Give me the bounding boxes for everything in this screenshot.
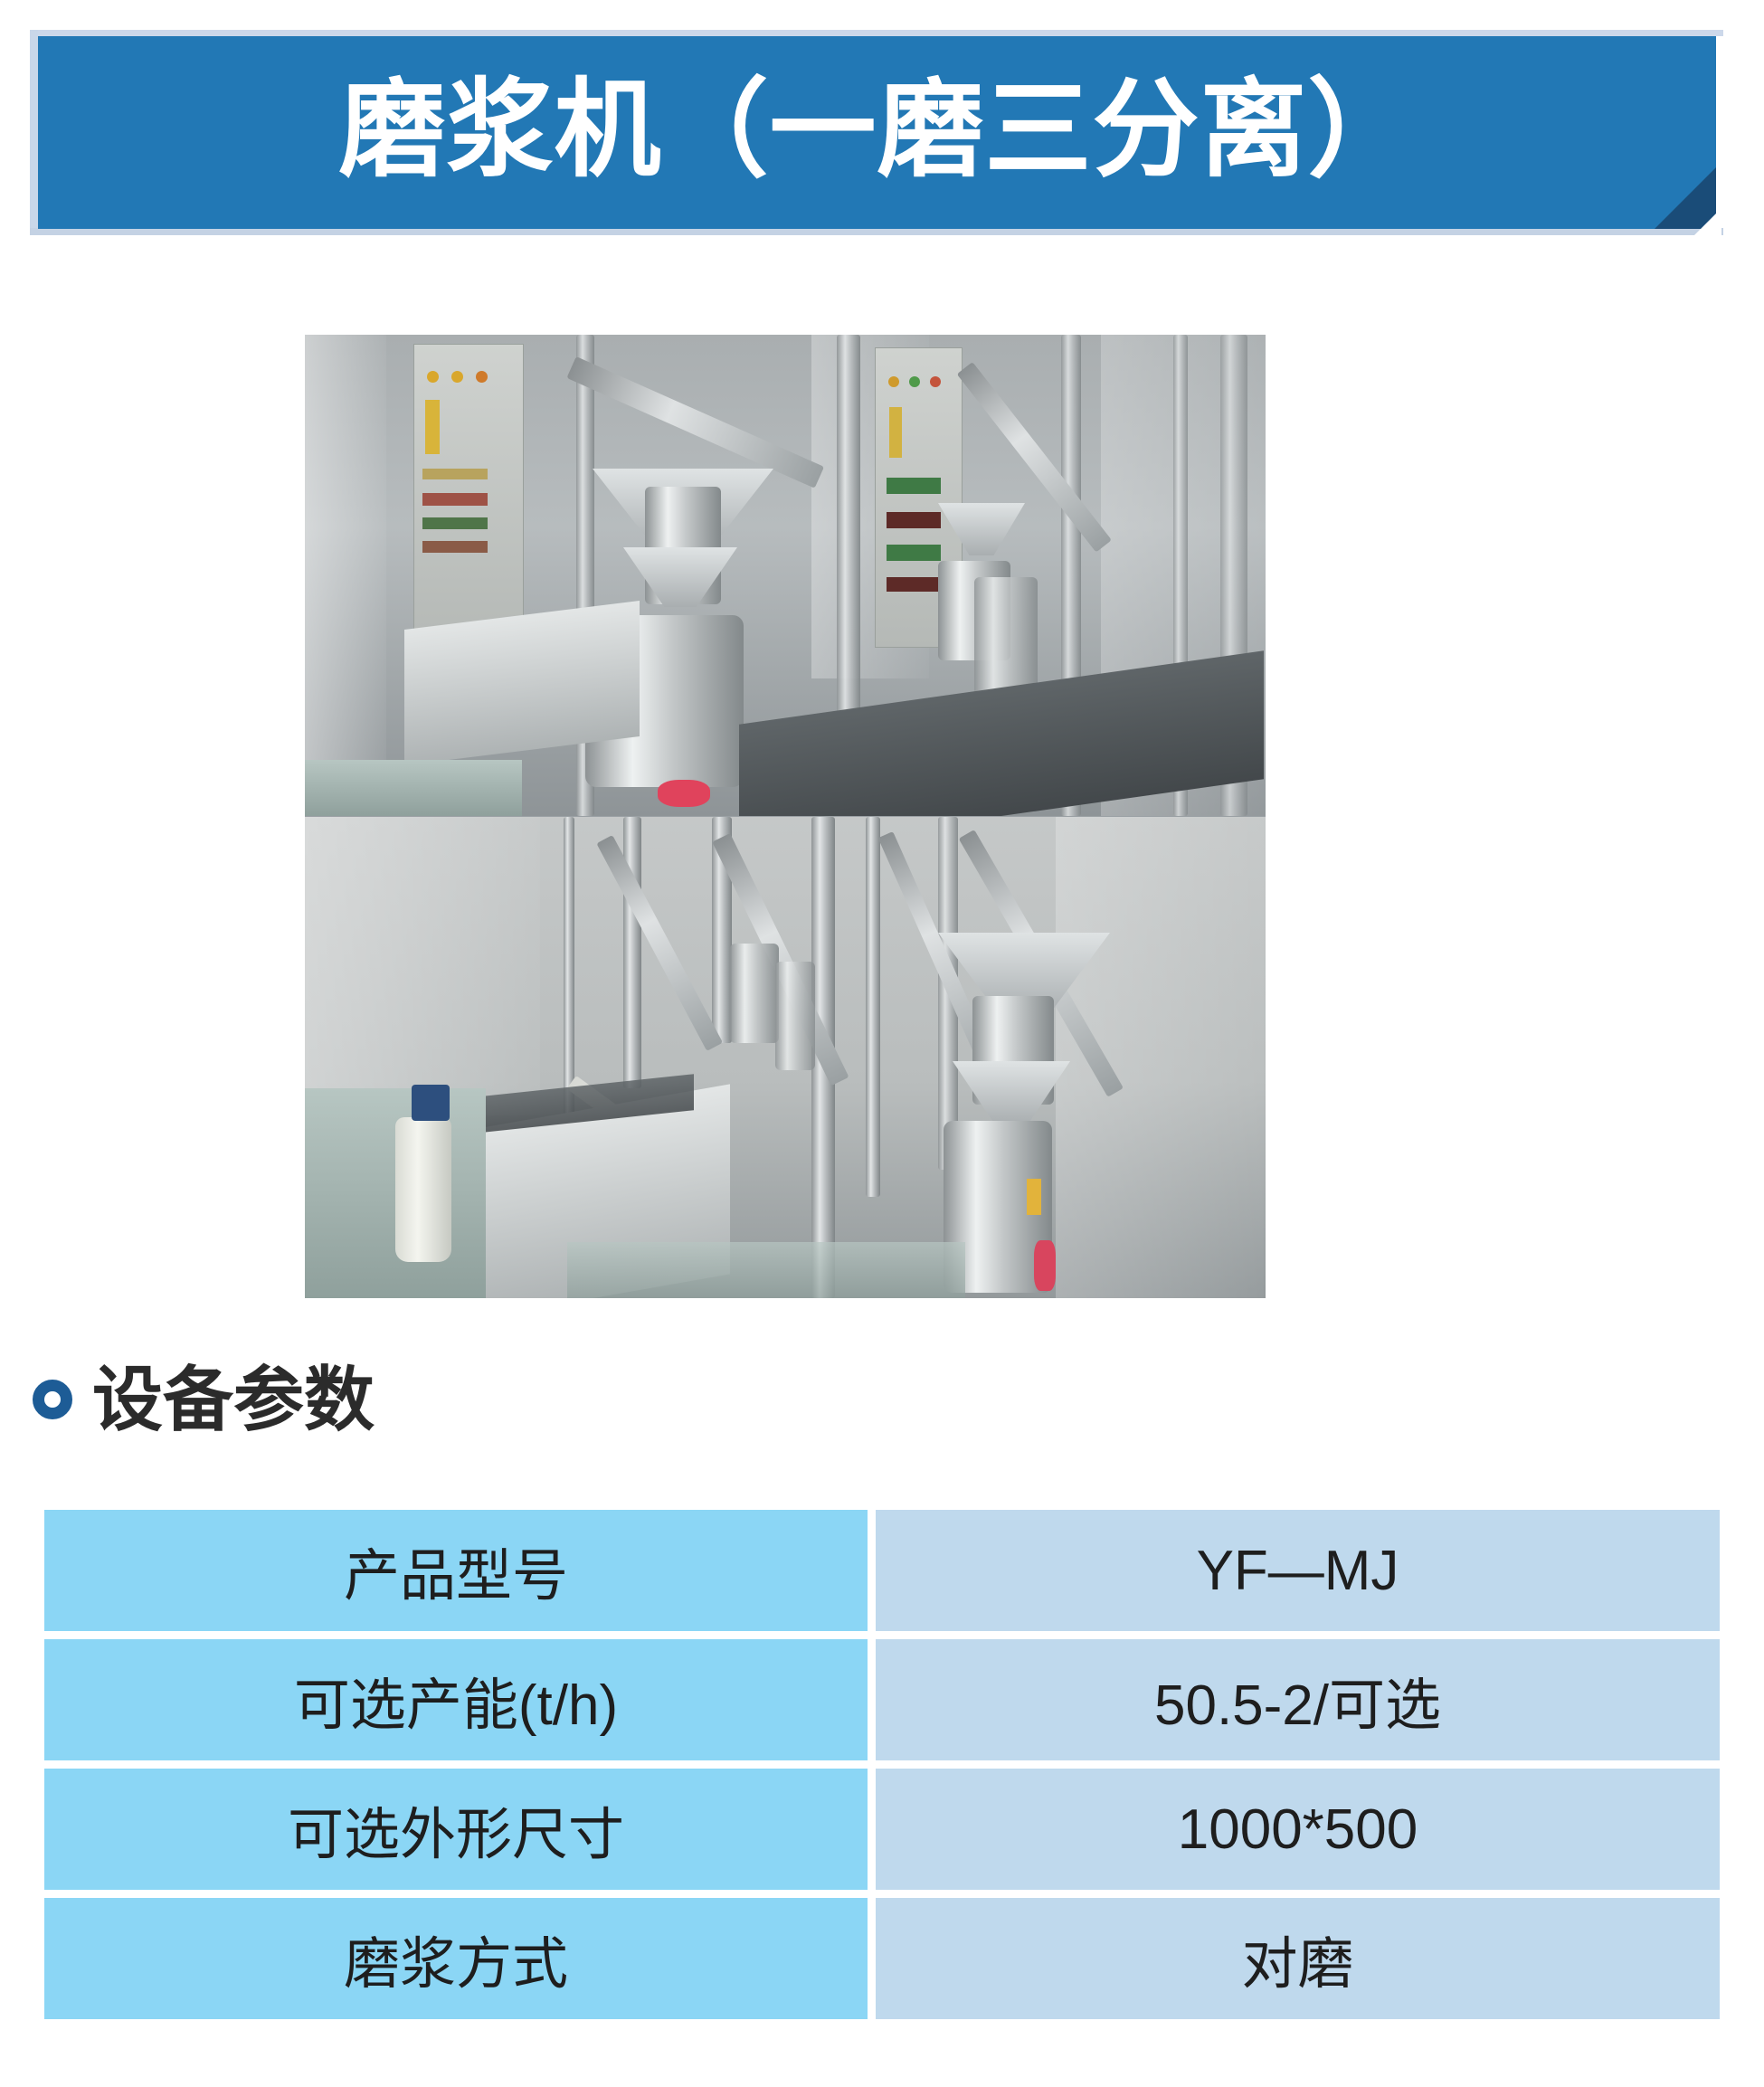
spec-value-model: YF—MJ <box>876 1510 1720 1631</box>
table-row: 可选外形尺寸 1000*500 <box>44 1769 1720 1890</box>
banner-fold-notch-icon <box>1694 208 1721 235</box>
banner-left-edge <box>30 30 38 235</box>
spec-section-heading: 设备参数 <box>33 1364 375 1435</box>
product-photo-bottom <box>305 817 1266 1298</box>
ring-bullet-icon <box>33 1380 72 1419</box>
banner-bottom-edge <box>30 228 1723 235</box>
photo-scene-bottom <box>305 817 1266 1298</box>
spec-label-dimensions: 可选外形尺寸 <box>44 1769 868 1890</box>
spec-label-grinding-method: 磨浆方式 <box>44 1898 868 2019</box>
photo-scene-top <box>305 335 1266 816</box>
product-photo-gallery <box>305 335 1266 1298</box>
spec-label-model: 产品型号 <box>44 1510 868 1631</box>
page-title: 磨浆机（一磨三分离） <box>38 36 1716 229</box>
spec-value-dimensions: 1000*500 <box>876 1769 1720 1890</box>
banner-body: 磨浆机（一磨三分离） <box>38 36 1716 229</box>
spec-value-grinding-method: 对磨 <box>876 1898 1720 2019</box>
table-row: 可选产能(t/h) 50.5-2/可选 <box>44 1639 1720 1760</box>
spec-section-title: 设备参数 <box>92 1364 375 1435</box>
spec-table-body: 产品型号 YF—MJ 可选产能(t/h) 50.5-2/可选 可选外形尺寸 10… <box>44 1510 1720 2019</box>
spec-label-capacity: 可选产能(t/h) <box>44 1639 868 1760</box>
spec-value-capacity: 50.5-2/可选 <box>876 1639 1720 1760</box>
page-header-banner: 磨浆机（一磨三分离） <box>30 30 1723 235</box>
banner-top-edge <box>30 30 1723 36</box>
product-photo-top <box>305 335 1266 816</box>
table-row: 磨浆方式 对磨 <box>44 1898 1720 2019</box>
table-row: 产品型号 YF—MJ <box>44 1510 1720 1631</box>
spec-table: 产品型号 YF—MJ 可选产能(t/h) 50.5-2/可选 可选外形尺寸 10… <box>36 1502 1728 2027</box>
